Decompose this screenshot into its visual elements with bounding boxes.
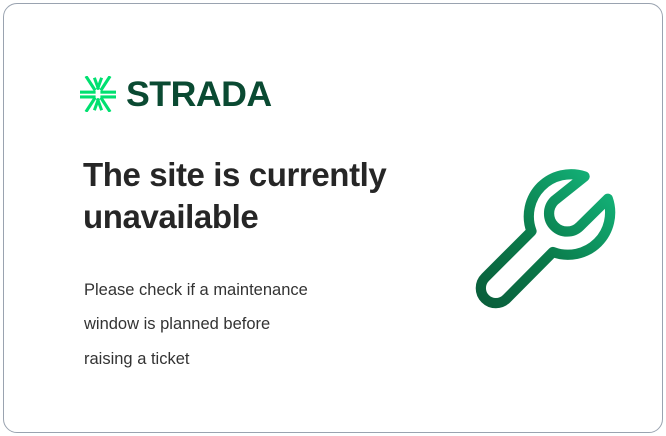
description-line-2: window is planned before	[84, 307, 394, 341]
page-title: The site is currently unavailable	[83, 154, 423, 237]
brand-wordmark: STRADA	[126, 77, 272, 112]
description-line-1: Please check if a maintenance	[84, 273, 394, 307]
description-line-3: raising a ticket	[84, 342, 394, 376]
page-description: Please check if a maintenance window is …	[84, 273, 394, 376]
status-card: STRADA The site is currently unavailable…	[3, 3, 663, 433]
asterisk-star-icon	[80, 76, 116, 112]
maintenance-illustration	[459, 156, 619, 316]
wrench-icon	[459, 156, 619, 316]
error-page: STRADA The site is currently unavailable…	[0, 0, 666, 436]
brand-logo: STRADA	[80, 76, 269, 112]
